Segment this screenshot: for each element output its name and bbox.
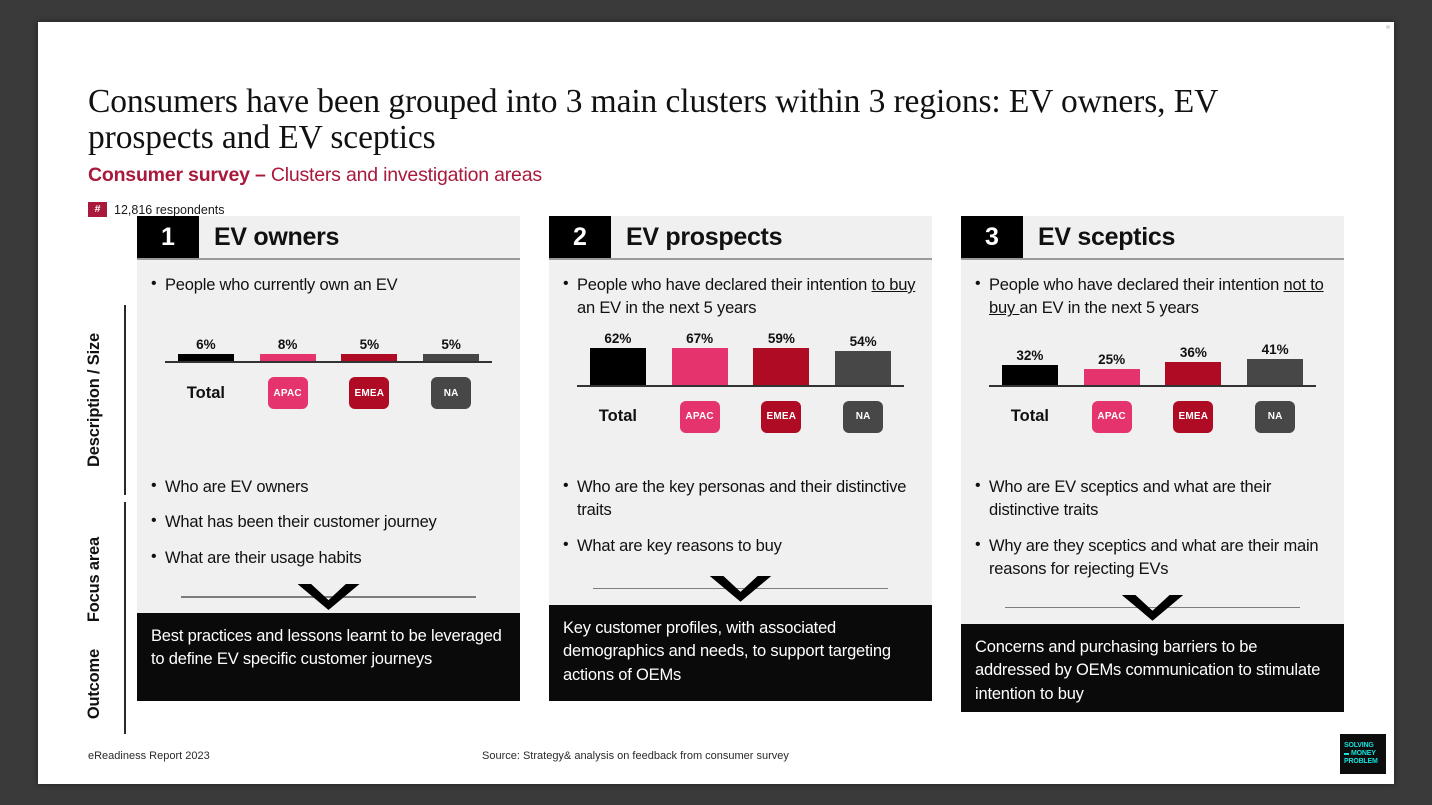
bar-value-label: 41% — [1262, 342, 1289, 357]
brand-logo: SOLVING MONEY PROBLEM — [1340, 734, 1386, 774]
category-label-cell: NA — [414, 377, 489, 409]
bar-item-emea: 59% — [744, 331, 819, 385]
bars-area: 32%25%36%41% — [989, 331, 1316, 387]
bar-item-na: 5% — [414, 307, 489, 361]
category-label-cell: NA — [826, 401, 901, 433]
bar-value-label: 25% — [1098, 352, 1125, 367]
bar-value-label: 67% — [686, 331, 713, 346]
bar-value-label: 54% — [850, 334, 877, 349]
bar-item-emea: 36% — [1156, 331, 1231, 385]
category-label-cell: Total — [580, 407, 655, 426]
category-label-cell: APAC — [662, 401, 737, 433]
logo-line-3: PROBLEM — [1344, 758, 1378, 766]
bar-rect — [260, 354, 316, 361]
logo-line-2-wrap: MONEY — [1344, 750, 1376, 758]
divider-line — [593, 588, 888, 590]
bar-item-total: 62% — [580, 331, 655, 385]
bar-rect — [1084, 369, 1140, 385]
subtitle-bold-part: Consumer survey – — [88, 164, 271, 186]
cluster-number-badge: 1 — [137, 216, 199, 258]
bar-value-label: 32% — [1016, 348, 1043, 363]
bars-area: 62%67%59%54% — [577, 331, 904, 387]
focus-area-bullet: What are key reasons to buy — [563, 535, 918, 558]
category-label-cell: APAC — [250, 377, 325, 409]
description-bullet-list: People who have declared their intention… — [975, 274, 1330, 321]
row-bracket-description — [124, 305, 126, 495]
row-label-description: Description / Size — [80, 305, 108, 495]
bar-value-label: 62% — [604, 331, 631, 346]
bar-value-label: 5% — [441, 337, 461, 352]
category-label-cell: EMEA — [332, 377, 407, 409]
category-label-cell: EMEA — [1156, 401, 1231, 433]
bar-item-emea: 5% — [332, 307, 407, 361]
outcome-box: Key customer profiles, with associated d… — [549, 605, 932, 701]
focus-area-bullet-list: Who are EV ownersWhat has been their cus… — [151, 476, 506, 570]
hash-icon: # — [88, 202, 107, 217]
category-label-cell: NA — [1238, 401, 1313, 433]
region-chip-emea: EMEA — [761, 401, 801, 433]
logo-line-1: SOLVING — [1344, 742, 1374, 750]
region-chip-apac: APAC — [680, 401, 720, 433]
bar-item-apac: 67% — [662, 331, 737, 385]
bar-rect — [1002, 365, 1058, 385]
bar-category-labels: TotalAPACEMEANA — [165, 377, 492, 409]
bar-value-label: 5% — [360, 337, 380, 352]
chevron-divider — [563, 575, 918, 603]
region-chip-na: NA — [843, 401, 883, 433]
bar-rect — [1247, 359, 1303, 385]
cluster-body: People who have declared their intention… — [549, 260, 932, 605]
category-label-cell: EMEA — [744, 401, 819, 433]
bar-rect — [590, 348, 646, 385]
region-chip-apac: APAC — [268, 377, 308, 409]
cluster-number-badge: 3 — [961, 216, 1023, 258]
category-label-cell: Total — [992, 407, 1067, 426]
cluster-title: EV owners — [199, 216, 520, 258]
bar-rect — [672, 348, 728, 385]
cluster-title: EV sceptics — [1023, 216, 1344, 258]
bar-value-label: 6% — [196, 337, 216, 352]
focus-area-bullet-list: Who are EV sceptics and what are their d… — [975, 476, 1330, 582]
outcome-box: Best practices and lessons learnt to be … — [137, 613, 520, 701]
bar-value-label: 36% — [1180, 345, 1207, 360]
cluster-column-3: 3EV scepticsPeople who have declared the… — [961, 216, 1344, 701]
region-chip-emea: EMEA — [349, 377, 389, 409]
slide-canvas: Consumers have been grouped into 3 main … — [38, 22, 1394, 784]
region-chip-na: NA — [431, 377, 471, 409]
divider-line — [181, 596, 476, 598]
bar-item-total: 32% — [992, 331, 1067, 385]
cluster-number-badge: 2 — [549, 216, 611, 258]
respondents-count: 12,816 respondents — [114, 203, 225, 217]
bar-item-na: 41% — [1238, 331, 1313, 385]
cluster-body: People who currently own an EV6%8%5%5%To… — [137, 260, 520, 613]
cluster-title: EV prospects — [611, 216, 932, 258]
bar-rect — [341, 354, 397, 361]
focus-area-block: Who are the key personas and their disti… — [563, 476, 918, 575]
focus-area-bullet: Who are EV owners — [151, 476, 506, 499]
respondents-row: # 12,816 respondents — [88, 202, 225, 217]
emphasis-underline: not to buy — [989, 276, 1324, 317]
region-bar-chart: 32%25%36%41%TotalAPACEMEANA — [975, 331, 1330, 433]
bar-item-apac: 25% — [1074, 331, 1149, 385]
bar-rect — [423, 354, 479, 361]
bar-rect — [1165, 362, 1221, 385]
bars-area: 6%8%5%5% — [165, 307, 492, 363]
bar-item-na: 54% — [826, 331, 901, 385]
region-chip-emea: EMEA — [1173, 401, 1213, 433]
outcome-box: Concerns and purchasing barriers to be a… — [961, 624, 1344, 712]
logo-line-2: MONEY — [1351, 750, 1376, 758]
bar-rect — [178, 354, 234, 361]
focus-area-bullet: Who are the key personas and their disti… — [563, 476, 918, 523]
bar-rect — [753, 348, 809, 385]
cluster-body: People who have declared their intention… — [961, 260, 1344, 624]
description-bullet-list: People who have declared their intention… — [563, 274, 918, 321]
category-label-total: Total — [1011, 407, 1049, 426]
bar-value-label: 8% — [278, 337, 298, 352]
bar-category-labels: TotalAPACEMEANA — [989, 401, 1316, 433]
slide-subtitle: Consumer survey – Clusters and investiga… — [88, 164, 542, 187]
row-bracket-outcome — [124, 634, 126, 734]
emphasis-underline: to buy — [872, 276, 916, 294]
bar-rect — [835, 351, 891, 385]
category-label-cell: APAC — [1074, 401, 1149, 433]
focus-area-bullet: Why are they sceptics and what are their… — [975, 535, 1330, 582]
focus-area-bullet: Who are EV sceptics and what are their d… — [975, 476, 1330, 523]
footer-report-name: eReadiness Report 2023 — [88, 750, 210, 762]
focus-area-block: Who are EV ownersWhat has been their cus… — [151, 476, 506, 583]
page-title: Consumers have been grouped into 3 main … — [88, 84, 1350, 156]
category-label-cell: Total — [168, 384, 243, 403]
subtitle-rest-part: Clusters and investigation areas — [271, 164, 542, 186]
divider-line — [1005, 607, 1300, 609]
chevron-divider — [975, 594, 1330, 622]
description-block: People who have declared their intention… — [563, 274, 918, 470]
bar-category-labels: TotalAPACEMEANA — [577, 401, 904, 433]
description-block: People who have declared their intention… — [975, 274, 1330, 470]
focus-area-bullet: What are their usage habits — [151, 547, 506, 570]
region-chip-apac: APAC — [1092, 401, 1132, 433]
description-bullet: People who currently own an EV — [151, 274, 506, 297]
row-label-outcome: Outcome — [80, 634, 108, 734]
cluster-columns: 1EV ownersPeople who currently own an EV… — [137, 216, 1344, 701]
corner-dot — [1386, 25, 1390, 29]
cluster-column-2: 2EV prospectsPeople who have declared th… — [549, 216, 932, 701]
region-bar-chart: 62%67%59%54%TotalAPACEMEANA — [563, 331, 918, 433]
bar-item-apac: 8% — [250, 307, 325, 361]
category-label-total: Total — [187, 384, 225, 403]
region-chip-na: NA — [1255, 401, 1295, 433]
description-bullet: People who have declared their intention… — [975, 274, 1330, 321]
region-bar-chart: 6%8%5%5%TotalAPACEMEANA — [151, 307, 506, 409]
description-block: People who currently own an EV6%8%5%5%To… — [151, 274, 506, 470]
cluster-column-1: 1EV ownersPeople who currently own an EV… — [137, 216, 520, 701]
cluster-header-2: 2EV prospects — [549, 216, 932, 258]
bar-value-label: 59% — [768, 331, 795, 346]
cluster-header-3: 3EV sceptics — [961, 216, 1344, 258]
footer-source: Source: Strategy& analysis on feedback f… — [482, 750, 789, 762]
description-bullet-list: People who currently own an EV — [151, 274, 506, 297]
category-label-total: Total — [599, 407, 637, 426]
description-bullet: People who have declared their intention… — [563, 274, 918, 321]
chevron-divider — [151, 583, 506, 611]
focus-area-block: Who are EV sceptics and what are their d… — [975, 476, 1330, 594]
focus-area-bullet-list: Who are the key personas and their disti… — [563, 476, 918, 558]
cluster-header-1: 1EV owners — [137, 216, 520, 258]
bar-item-total: 6% — [168, 307, 243, 361]
logo-dash-icon — [1344, 753, 1349, 755]
focus-area-bullet: What has been their customer journey — [151, 511, 506, 534]
